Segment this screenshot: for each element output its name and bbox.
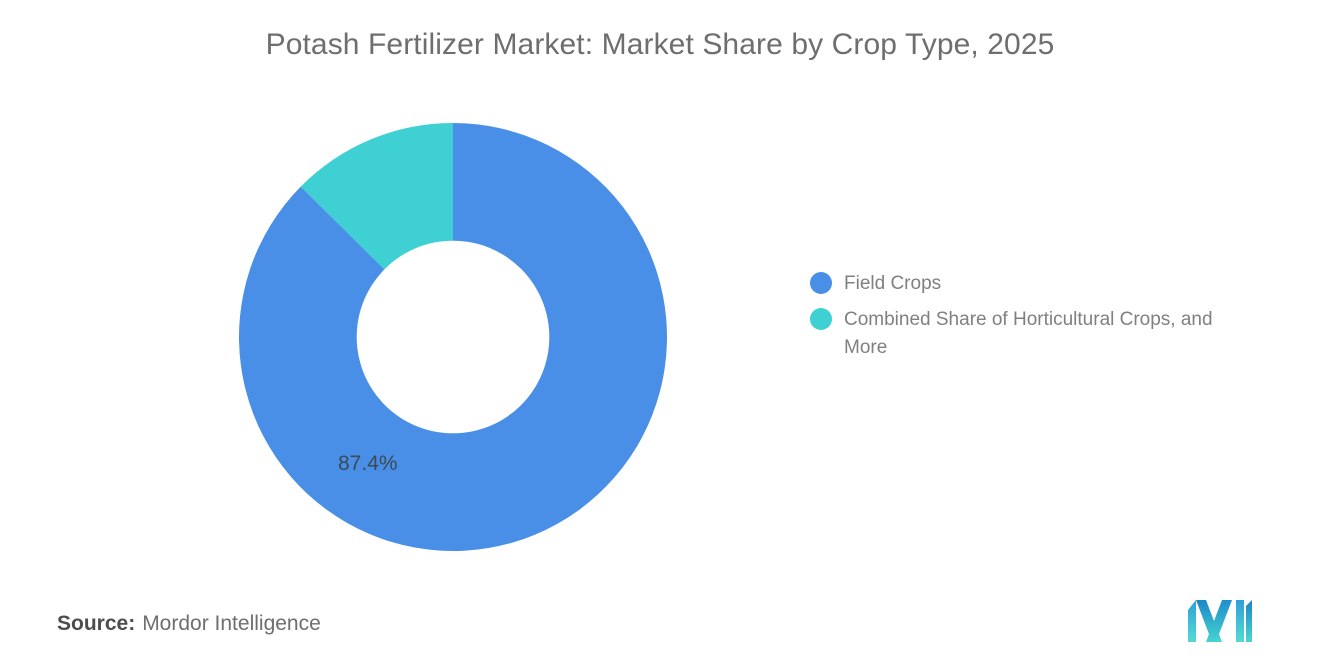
source-label: Source: (57, 612, 135, 635)
legend-item-horticultural-crops[interactable]: Combined Share of Horticultural Crops, a… (810, 306, 1270, 362)
chart-legend: Field Crops Combined Share of Horticultu… (810, 270, 1270, 370)
page-title: Potash Fertilizer Market: Market Share b… (0, 28, 1320, 62)
donut-chart (237, 121, 669, 553)
legend-item-field-crops[interactable]: Field Crops (810, 270, 1270, 298)
legend-label-field-crops: Field Crops (844, 270, 941, 298)
donut-chart-svg (237, 121, 669, 553)
donut-slice-label-field-crops: 87.4% (338, 452, 398, 476)
legend-swatch-icon-horticultural-crops (810, 308, 832, 330)
donut-hole (357, 241, 550, 434)
legend-swatch-icon-field-crops (810, 272, 832, 294)
source-line: Source:Mordor Intelligence (57, 612, 321, 636)
logo-svg (1186, 598, 1254, 644)
legend-label-horticultural-crops: Combined Share of Horticultural Crops, a… (844, 306, 1254, 362)
mordor-intelligence-logo-icon (1186, 598, 1254, 644)
source-value: Mordor Intelligence (142, 612, 321, 635)
